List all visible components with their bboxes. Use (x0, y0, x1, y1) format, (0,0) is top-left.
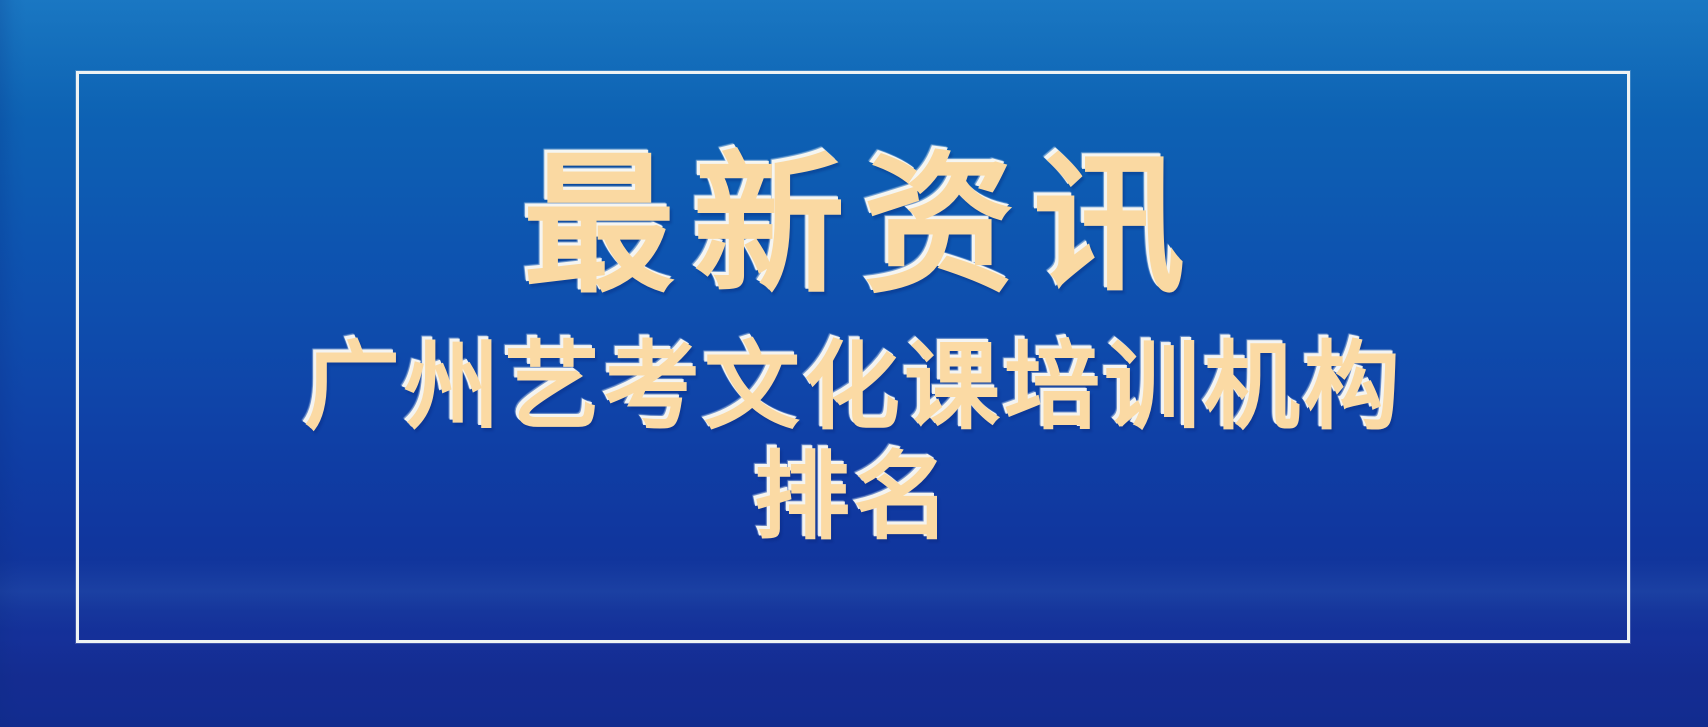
banner-headline: 最新资讯 (505, 140, 1203, 310)
banner-content: 最新资讯 广州艺考文化课培训机构排名 (0, 0, 1708, 727)
banner-subtitle: 广州艺考文化课培训机构排名 (294, 332, 1414, 551)
news-banner: 最新资讯 广州艺考文化课培训机构排名 (0, 0, 1708, 727)
